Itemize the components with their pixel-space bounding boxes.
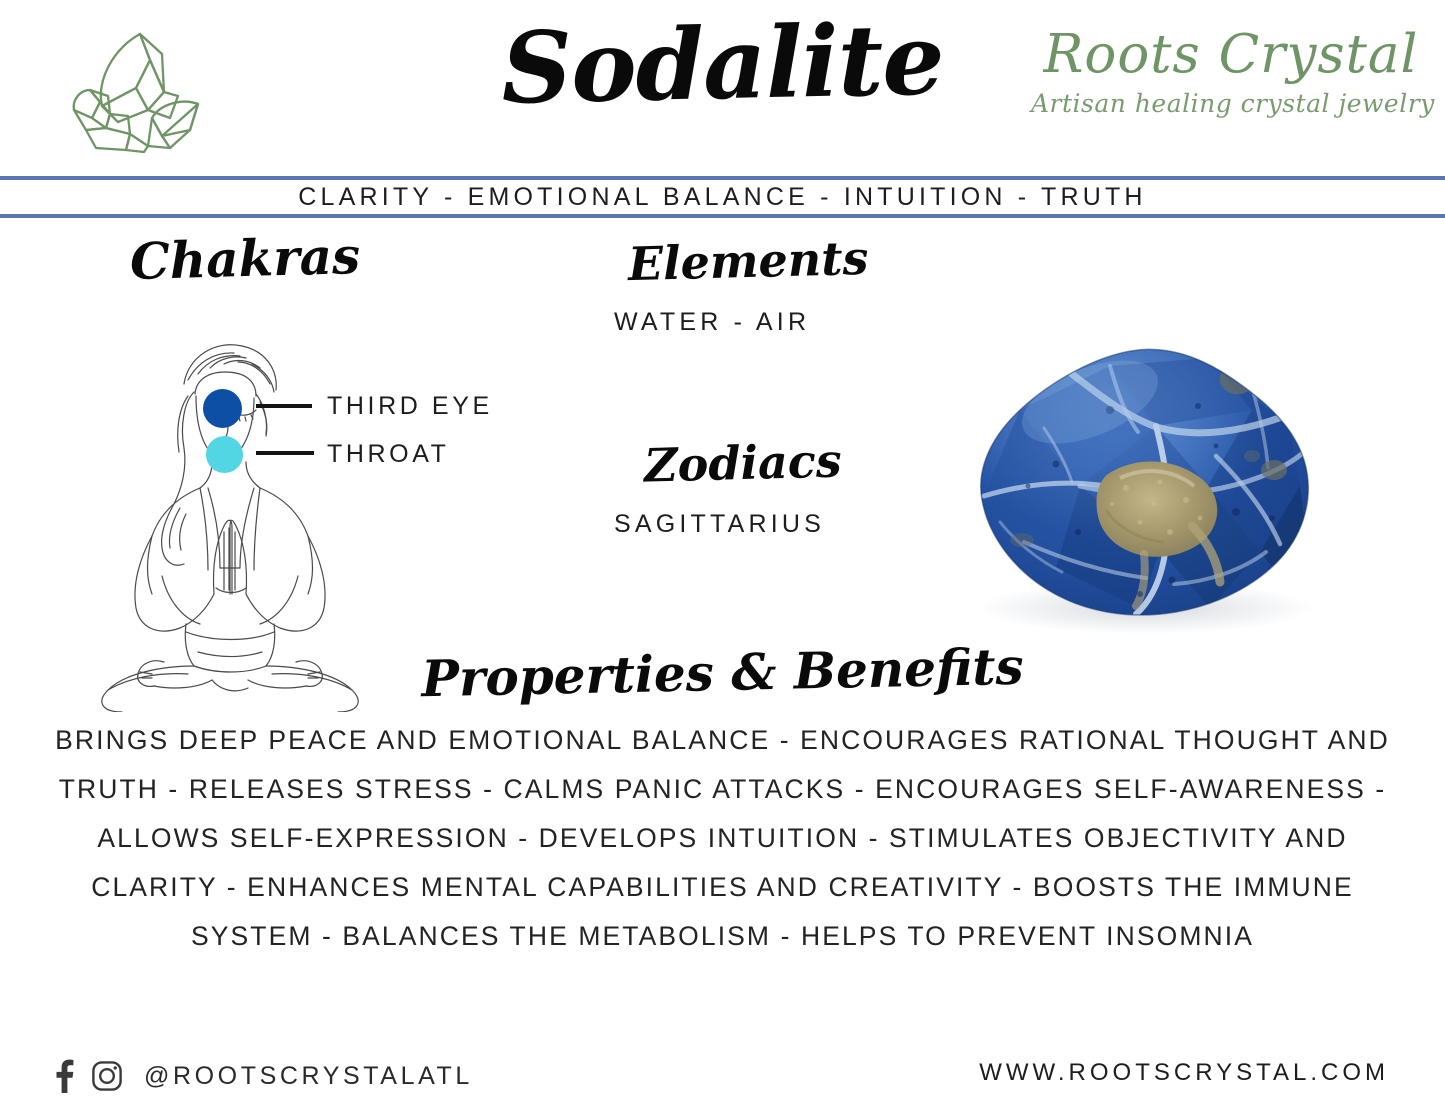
sodalite-tumbled-stone-photo [960, 336, 1332, 636]
facebook-icon[interactable] [52, 1059, 76, 1093]
chakra-dot-third-eye [203, 389, 242, 428]
zodiacs-heading: Zodiacs [643, 437, 842, 488]
instagram-icon[interactable] [91, 1060, 123, 1092]
chakras-heading: Chakras [129, 231, 360, 287]
elements-value: WATER - AIR [614, 308, 810, 337]
brand-name: Roots Crystal [1031, 28, 1431, 82]
elements-heading: Elements [627, 235, 868, 287]
chakra-label-third-eye: THIRD EYE [327, 392, 493, 421]
chakra-label-throat: THROAT [327, 440, 450, 469]
social-footer: @ROOTSCRYSTALATL [52, 1059, 473, 1093]
website-url[interactable]: WWW.ROOTSCRYSTAL.COM [979, 1059, 1389, 1087]
chakra-dot-throat [206, 436, 243, 473]
divider-bottom [0, 214, 1445, 218]
brand-tagline: Artisan healing crystal jewelry [1031, 88, 1431, 119]
zodiacs-value: SAGITTARIUS [614, 510, 825, 539]
leader-line-third-eye [256, 404, 312, 408]
social-handle[interactable]: @ROOTSCRYSTALATL [144, 1062, 473, 1091]
meditating-woman-lotus-icon [48, 322, 398, 712]
brand-block: Roots Crystal Artisan healing crystal je… [1031, 28, 1431, 119]
crystal-info-card: Sodalite Roots Crystal Artisan healing c… [0, 0, 1445, 1117]
keywords-banner: CLARITY - EMOTIONAL BALANCE - INTUITION … [0, 180, 1445, 214]
properties-text: BRINGS DEEP PEACE AND EMOTIONAL BALANCE … [40, 716, 1405, 961]
leader-line-throat [256, 451, 314, 455]
